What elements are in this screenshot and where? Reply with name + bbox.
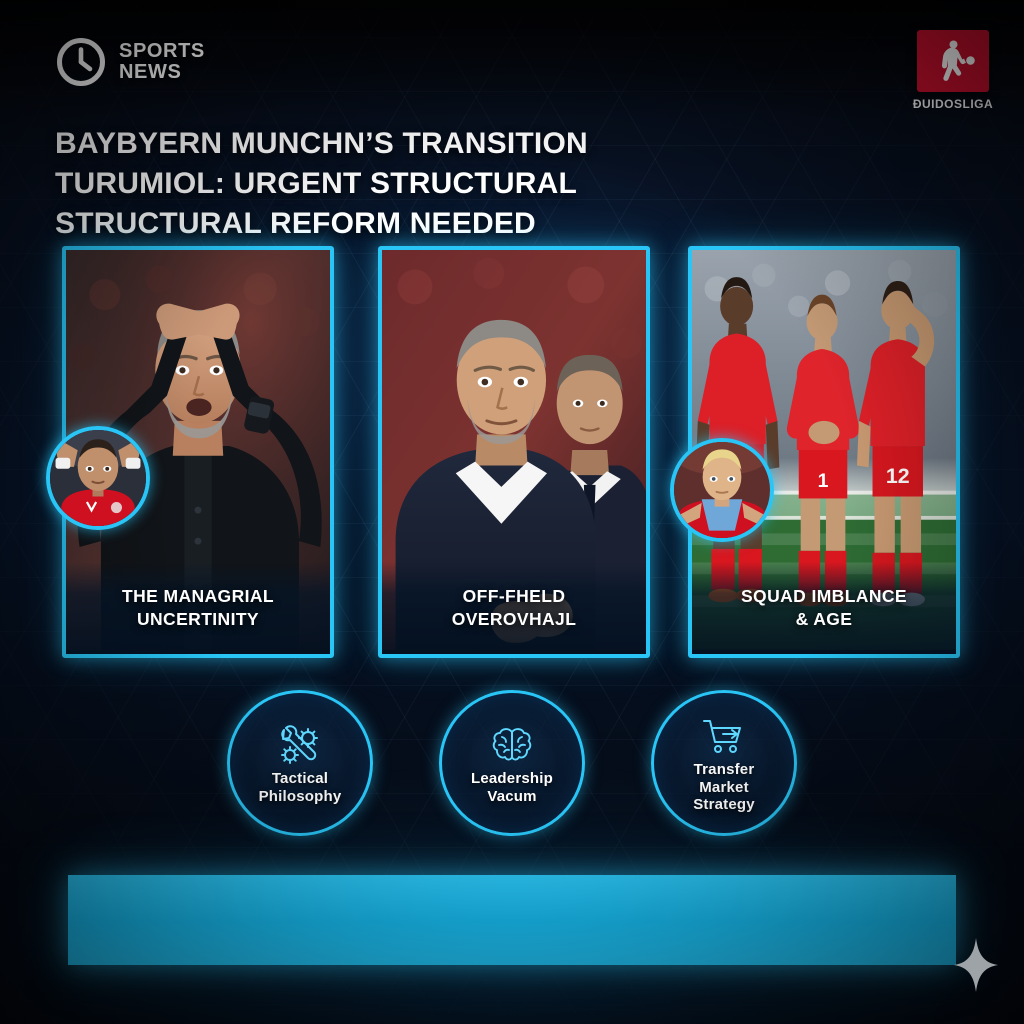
badge-label-line-2: Philosophy: [259, 788, 342, 806]
topic-card-managerial-uncertainty[interactable]: THE MANAGRIAL UNCERTINITY: [62, 246, 334, 658]
bottom-banner-bar[interactable]: [68, 875, 956, 965]
card-caption: OFF-FHELD OVEROVHAJL: [382, 562, 646, 654]
badge-label-line-2: Market: [693, 779, 755, 797]
svg-text:12: 12: [886, 464, 910, 488]
brand-logo: SPORTS NEWS: [55, 36, 205, 88]
headline-line-2: TURUMIOL: URGENT STRUCTURAL: [55, 164, 695, 204]
player-inset-photo: [674, 442, 770, 538]
brain-icon: [489, 725, 535, 767]
topic-card-off-field-overhaul[interactable]: OFF-FHELD OVEROVHAJL: [378, 246, 650, 658]
card-caption-line-2: UNCERTINITY: [137, 608, 259, 631]
headline-line-1: BAYBYERN MUNCHN’S TRANSITION: [55, 124, 695, 164]
clock-icon: [55, 36, 107, 88]
feature-badge-label: Transfer Market Strategy: [693, 761, 755, 814]
card-caption: SQUAD IMBLANCE & AGE: [692, 562, 956, 654]
feature-badge-label: Tactical Philosophy: [259, 770, 342, 805]
page-title: BAYBYERN MUNCHN’S TRANSITION TURUMIOL: U…: [55, 124, 695, 244]
player-inset-avatar: [670, 438, 774, 542]
headline-line-3: STRUCTURAL REFORM NEEDED: [55, 204, 695, 244]
badge-label-line-2: Vacum: [471, 788, 553, 806]
card-caption-line-2: OVEROVHAJL: [452, 608, 577, 631]
svg-text:1: 1: [818, 470, 829, 492]
league-badge: [917, 30, 989, 92]
feature-badge-label: Leadership Vacum: [471, 770, 553, 805]
badge-label-line-3: Strategy: [693, 796, 755, 814]
league-logo: ƉUIDOSLIGA: [910, 30, 996, 111]
infographic-canvas: SPORTS NEWS ƉUIDOSLIGA BAYBYERN MUNCHN’S…: [0, 0, 1024, 1024]
feature-badge-tactical-philosophy[interactable]: Tactical Philosophy: [227, 690, 373, 836]
feature-badge-leadership-vacuum[interactable]: Leadership Vacum: [439, 690, 585, 836]
badge-label-line-1: Leadership: [471, 770, 553, 788]
feature-badge-transfer-market-strategy[interactable]: Transfer Market Strategy: [651, 690, 797, 836]
wrench-gears-icon: [277, 725, 323, 767]
shopping-cart-arrow-icon: [701, 716, 747, 758]
badge-label-line-1: Transfer: [693, 761, 755, 779]
topic-card-row: THE MANAGRIAL UNCERTINITY: [0, 246, 1024, 658]
brand-name: SPORTS NEWS: [119, 41, 205, 83]
brand-line-2: NEWS: [119, 62, 205, 83]
player-inset-photo: [50, 430, 146, 526]
card-caption-line-2: & AGE: [796, 608, 853, 631]
card-caption-line-1: SQUAD IMBLANCE: [741, 585, 907, 608]
sparkle-icon: [954, 938, 998, 992]
badge-label-line-1: Tactical: [259, 770, 342, 788]
card-caption-line-1: OFF-FHELD: [463, 585, 566, 608]
feature-badge-row: Tactical Philosophy Leadership Vacum: [0, 690, 1024, 840]
bundesliga-player-icon: [929, 38, 977, 84]
brand-line-1: SPORTS: [119, 41, 205, 62]
topic-card-squad-imbalance-age[interactable]: 25: [688, 246, 960, 658]
league-name: ƉUIDOSLIGA: [910, 97, 996, 111]
card-caption-line-1: THE MANAGRIAL: [122, 585, 274, 608]
player-inset-avatar: [46, 426, 150, 530]
card-caption: THE MANAGRIAL UNCERTINITY: [66, 562, 330, 654]
